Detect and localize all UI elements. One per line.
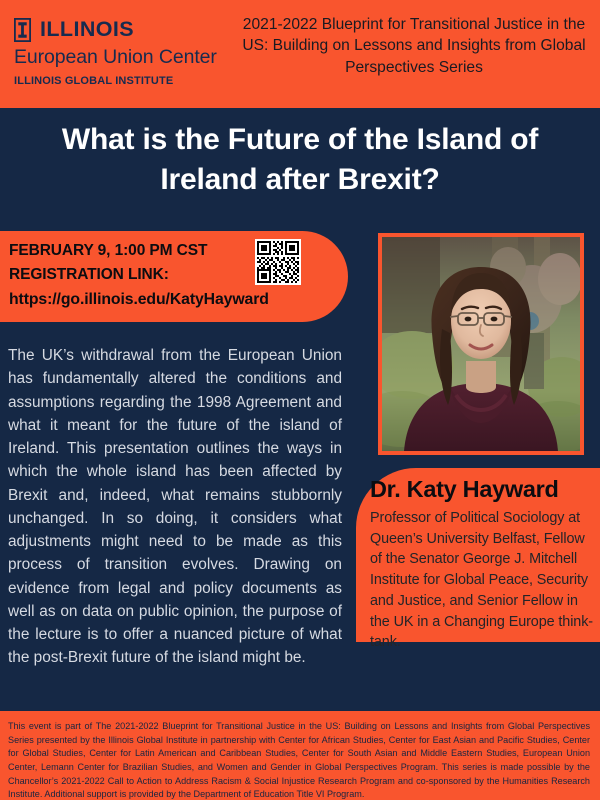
speaker-bio: Professor of Political Sociology at Quee… xyxy=(370,508,594,653)
speaker-photo xyxy=(382,237,580,451)
qr-code-icon[interactable] xyxy=(255,239,301,285)
illinois-block-i-icon xyxy=(14,18,31,42)
speaker-panel: Dr. Katy Hayward Professor of Political … xyxy=(356,468,600,642)
header-band: ILLINOIS European Union Center ILLINOIS … xyxy=(0,0,600,108)
brand-wordmark: ILLINOIS xyxy=(40,19,134,41)
registration-url[interactable]: https://go.illinois.edu/KatyHayward xyxy=(9,288,341,313)
event-poster: ILLINOIS European Union Center ILLINOIS … xyxy=(0,0,600,800)
brand-unit-name: European Union Center xyxy=(14,46,229,68)
footer-band: This event is part of The 2021-2022 Blue… xyxy=(0,711,600,800)
illinois-brand-lockup: ILLINOIS European Union Center ILLINOIS … xyxy=(14,17,229,87)
series-title: 2021-2022 Blueprint for Transitional Jus… xyxy=(236,14,592,78)
brand-wordmark-row: ILLINOIS xyxy=(14,17,229,43)
footer-credits: This event is part of The 2021-2022 Blue… xyxy=(8,720,590,800)
speaker-photo-frame xyxy=(378,233,584,455)
event-description: The UK’s withdrawal from the European Un… xyxy=(8,344,342,670)
page-title: What is the Future of the Island of Irel… xyxy=(0,120,600,199)
speaker-name: Dr. Katy Hayward xyxy=(370,477,594,503)
brand-institute-name: ILLINOIS GLOBAL INSTITUTE xyxy=(14,75,229,87)
